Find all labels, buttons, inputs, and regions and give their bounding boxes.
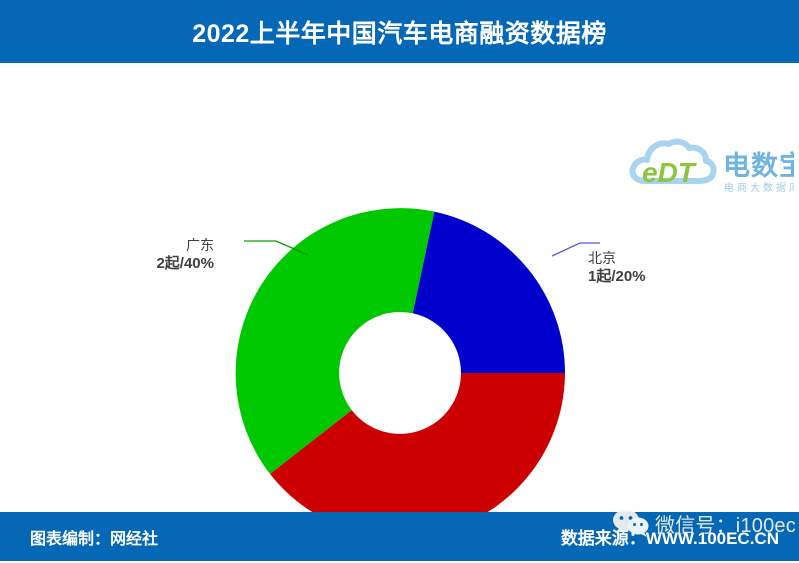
slice-label-guangdong-name: 广东 [100, 237, 214, 255]
logo-mark-text: eDT [642, 157, 698, 188]
wechat-watermark-text: 微信号：i100ec [655, 509, 796, 538]
slice-label-guangdong: 广东 2起/40% [100, 237, 214, 273]
slice-label-beijing-name: 北京 [588, 250, 646, 268]
logo-tagline: 电商大数据库 [724, 181, 794, 194]
slice-label-guangdong-value: 2起/40% [100, 255, 214, 274]
wechat-icon [612, 509, 650, 537]
page-title: 2022上半年中国汽车电商融资数据榜 [0, 0, 799, 63]
brand-logo: eDT 电数宝 电商大数据库 [628, 135, 794, 197]
slice-label-beijing-value: 1起/20% [588, 268, 646, 287]
donut-slice-beijing [413, 212, 565, 373]
chart-canvas: eDT 电数宝 电商大数据库 广东 2起/40% 北京 1起/20% 浙江 2起… [0, 63, 799, 512]
slice-label-beijing: 北京 1起/20% [588, 250, 646, 286]
wechat-watermark: 微信号：i100ec [612, 508, 796, 538]
logo-brand-name: 电数宝 [723, 150, 794, 181]
footer-credit: 图表编制：网经社 [30, 512, 158, 561]
donut-chart [200, 193, 600, 553]
